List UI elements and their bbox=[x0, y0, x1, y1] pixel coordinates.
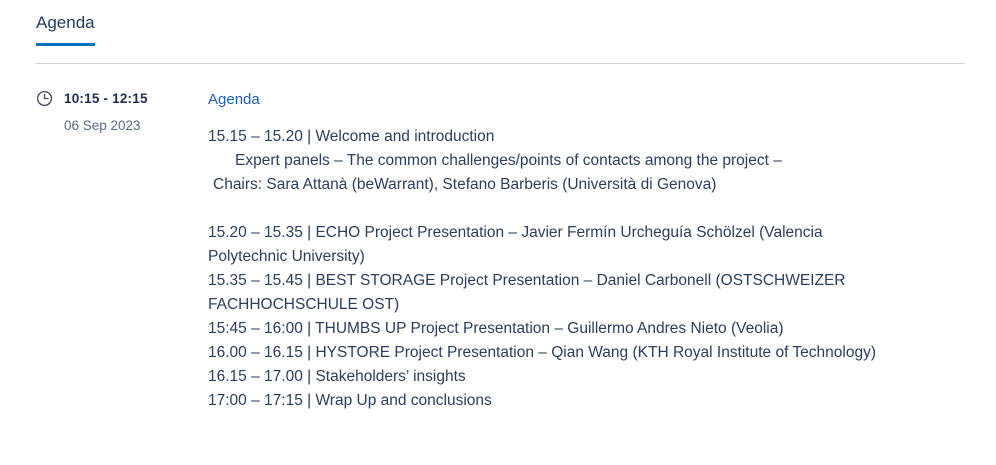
agenda-line: 15.15 – 15.20 | Welcome and introduction bbox=[208, 125, 900, 149]
event-date: 06 Sep 2023 bbox=[36, 118, 208, 133]
event-description: 15.15 – 15.20 | Welcome and introduction… bbox=[208, 125, 900, 413]
agenda-event-row: 10:15 - 12:15 06 Sep 2023 Agenda 15.15 –… bbox=[0, 64, 996, 413]
tab-agenda[interactable]: Agenda bbox=[36, 12, 95, 46]
event-title-link[interactable]: Agenda bbox=[208, 90, 260, 110]
agenda-line-spacer bbox=[208, 197, 900, 221]
event-content: Agenda 15.15 – 15.20 | Welcome and intro… bbox=[208, 90, 996, 413]
event-meta: 10:15 - 12:15 06 Sep 2023 bbox=[0, 90, 208, 413]
tab-bar: Agenda bbox=[0, 0, 996, 46]
agenda-line: 16.15 – 17.00 | Stakeholders’ insights bbox=[208, 365, 900, 389]
agenda-line: 15.35 – 15.45 | BEST STORAGE Project Pre… bbox=[208, 269, 900, 317]
agenda-line: 16.00 – 16.15 | HYSTORE Project Presenta… bbox=[208, 341, 900, 365]
event-time-row: 10:15 - 12:15 bbox=[36, 90, 208, 107]
agenda-line: 17:00 – 17:15 | Wrap Up and conclusions bbox=[208, 389, 900, 413]
agenda-line: 15:45 – 16:00 | THUMBS UP Project Presen… bbox=[208, 317, 900, 341]
agenda-line: Chairs: Sara Attanà (beWarrant), Stefano… bbox=[208, 173, 900, 197]
agenda-line: 15.20 – 15.35 | ECHO Project Presentatio… bbox=[208, 221, 900, 269]
clock-icon bbox=[36, 90, 53, 107]
event-time-range: 10:15 - 12:15 bbox=[64, 91, 148, 106]
agenda-line: Expert panels – The common challenges/po… bbox=[208, 149, 900, 173]
